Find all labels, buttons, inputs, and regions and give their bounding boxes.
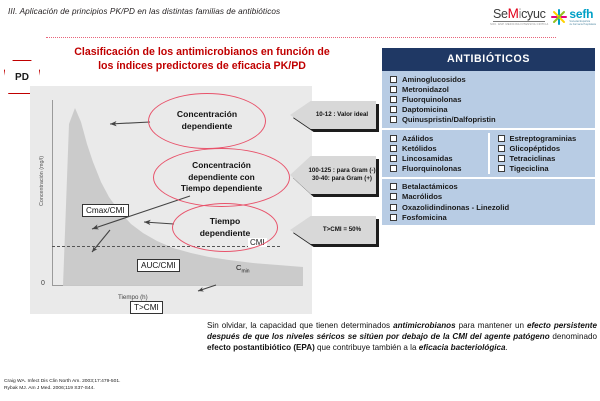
header-divider bbox=[46, 37, 556, 38]
auc-cmi-box: AUC/CMI bbox=[137, 259, 180, 272]
reference-line-2: Rybak MJ. Am J Med. 2006;119 S37-S44. bbox=[4, 386, 120, 393]
sefh-sub2: de Farmacia Hospitalaria bbox=[569, 23, 596, 26]
page-title: Clasificación de los antimicrobianos en … bbox=[34, 46, 370, 73]
list-item-label: Tigeciclina bbox=[510, 164, 549, 173]
cmin-label: Cmin bbox=[236, 263, 250, 275]
list-item-label: Fosfomicina bbox=[402, 213, 447, 222]
list-item: Quinuspristin/Dalfopristin bbox=[382, 115, 595, 125]
antibiotics-section-3: Betalactámicos Macrólidos Oxazolidindino… bbox=[382, 177, 595, 226]
checkbox-icon bbox=[390, 165, 397, 172]
ellipse-concentracion-dependiente: Concentración dependiente bbox=[148, 93, 266, 149]
para-text-3: denominado bbox=[550, 332, 597, 341]
ellipse2-line3: Tiempo dependiente bbox=[181, 183, 262, 195]
chevron3-text: T>CMI = 50% bbox=[290, 216, 376, 244]
pd-badge-label: PD bbox=[15, 72, 29, 83]
antibiotics-table-header: ANTIBIÓTICOS bbox=[382, 48, 595, 71]
list-item-label: Aminoglucosidos bbox=[402, 75, 466, 84]
antibiotics-col-right: Estreptograminias Glicopéptidos Tetracic… bbox=[490, 133, 596, 174]
cmax-cmi-box: Cmax/CMI bbox=[82, 204, 129, 217]
list-item: Aminoglucosidos bbox=[382, 74, 595, 84]
semicyuc-logo: SeMicyuc SOC. ESP. MEDICINA INTENSIVA CR… bbox=[490, 8, 548, 26]
chevron2-line1: 100-125 : para Gram (-) bbox=[308, 167, 375, 175]
list-item: Glicopéptidos bbox=[490, 143, 596, 153]
checkbox-icon bbox=[390, 76, 397, 83]
para-emph-4: eficacia bacteriológica bbox=[419, 343, 506, 352]
ellipse-concentracion-tiempo-dependiente: Concentración dependiente con Tiempo dep… bbox=[153, 148, 290, 207]
ellipse3-line2: dependiente bbox=[200, 228, 251, 240]
list-item: Estreptograminias bbox=[490, 133, 596, 143]
ellipse3-line1: Tiempo bbox=[200, 216, 251, 228]
checkbox-icon bbox=[498, 165, 505, 172]
list-item: Tetraciclinas bbox=[490, 153, 596, 163]
semicyuc-tagline: SOC. ESP. MEDICINA INTENSIVA CRITICA bbox=[490, 23, 548, 26]
semicyuc-wordmark: SeMicyuc bbox=[493, 8, 546, 20]
antibiotics-section-2: Azálidos Ketólidos Lincosamidas Fluorqui… bbox=[382, 128, 595, 177]
checkbox-icon bbox=[390, 145, 397, 152]
ellipse2-line2: dependiente con bbox=[181, 172, 262, 184]
chevron-t-sobre-cmi: T>CMI = 50% bbox=[290, 216, 376, 244]
reference-line-1: Craig WA. Infect Dis Clin North Am. 2003… bbox=[4, 379, 120, 386]
checkbox-icon bbox=[390, 116, 397, 123]
list-item-label: Daptomicina bbox=[402, 105, 448, 114]
chevron3-line1: T>CMI = 50% bbox=[323, 226, 361, 234]
checkbox-icon bbox=[390, 86, 397, 93]
list-item-label: Quinuspristin/Dalfopristin bbox=[402, 115, 496, 124]
list-item-label: Ketólidos bbox=[402, 144, 437, 153]
list-item: Lincosamidas bbox=[382, 153, 488, 163]
checkbox-icon bbox=[390, 193, 397, 200]
list-item: Fluorquinolonas bbox=[382, 94, 595, 104]
list-item: Betalactámicos bbox=[382, 182, 595, 192]
list-item: Oxazolidindinonas - Linezolid bbox=[382, 202, 595, 212]
sefh-logo: sefh Sociedad Española de Farmacia Hospi… bbox=[551, 9, 596, 26]
list-item: Daptomicina bbox=[382, 105, 595, 115]
list-item-label: Estreptograminias bbox=[510, 134, 577, 143]
list-item-label: Tetraciclinas bbox=[510, 154, 556, 163]
chart-origin-label: 0 bbox=[41, 280, 45, 287]
checkbox-icon bbox=[390, 214, 397, 221]
ellipse1-line2: dependiente bbox=[177, 121, 237, 133]
para-emph-1: antimicrobianos bbox=[393, 321, 456, 330]
slide-root: III. Aplicación de principios PK/PD en l… bbox=[0, 0, 600, 401]
chevron1-line1: 10-12 : Valor ideal bbox=[316, 111, 368, 119]
ellipse-tiempo-dependiente: Tiempo dependiente bbox=[172, 203, 278, 252]
list-item: Fluorquinolonas bbox=[382, 164, 488, 174]
star-icon bbox=[551, 9, 567, 25]
antibiotics-two-column: Azálidos Ketólidos Lincosamidas Fluorqui… bbox=[382, 133, 595, 174]
list-item-label: Fluorquinolonas bbox=[402, 164, 461, 173]
logo-group: SeMicyuc SOC. ESP. MEDICINA INTENSIVA CR… bbox=[490, 2, 596, 32]
list-item-label: Lincosamidas bbox=[402, 154, 453, 163]
checkbox-icon bbox=[390, 106, 397, 113]
chart-y-axis-label: Concentración (mg/l) bbox=[39, 131, 45, 231]
summary-paragraph: Sin olvidar, la capacidad que tienen det… bbox=[207, 320, 597, 354]
antibiotics-col-left: Azálidos Ketólidos Lincosamidas Fluorqui… bbox=[382, 133, 490, 174]
references: Craig WA. Infect Dis Clin North Am. 2003… bbox=[4, 379, 120, 392]
chart-x-axis-label: Tiempo (h) bbox=[118, 294, 148, 301]
page-title-line2: los índices predictores de eficacia PK/P… bbox=[34, 60, 370, 74]
list-item-label: Azálidos bbox=[402, 134, 433, 143]
sefh-wordmark: sefh Sociedad Española de Farmacia Hospi… bbox=[569, 9, 596, 26]
list-item-label: Oxazolidindinonas - Linezolid bbox=[402, 203, 509, 212]
list-item: Ketólidos bbox=[382, 143, 488, 153]
antibiotics-table: ANTIBIÓTICOS Aminoglucosidos Metronidazo… bbox=[382, 48, 595, 225]
chevron1-text: 10-12 : Valor ideal bbox=[290, 101, 376, 129]
checkbox-icon bbox=[390, 183, 397, 190]
checkbox-icon bbox=[390, 135, 397, 142]
list-item: Metronidazol bbox=[382, 84, 595, 94]
slide-header-title: III. Aplicación de principios PK/PD en l… bbox=[8, 7, 428, 16]
list-item: Fosfomicina bbox=[382, 212, 595, 222]
chevron-gram-valores: 100-125 : para Gram (-) 30-40: para Gram… bbox=[290, 156, 376, 194]
antibiotics-section-1: Aminoglucosidos Metronidazol Fluorquinol… bbox=[382, 71, 595, 128]
para-emph-3: efecto postantibiótico (EPA) bbox=[207, 343, 315, 352]
ellipse2-line1: Concentración bbox=[181, 160, 262, 172]
list-item: Macrólidos bbox=[382, 192, 595, 202]
list-item: Tigeciclina bbox=[490, 164, 596, 174]
para-text-2: para mantener un bbox=[456, 321, 527, 330]
checkbox-icon bbox=[498, 145, 505, 152]
para-text-4: que contribuye también a la bbox=[315, 343, 419, 352]
chevron2-text: 100-125 : para Gram (-) 30-40: para Gram… bbox=[290, 156, 376, 194]
checkbox-icon bbox=[390, 96, 397, 103]
checkbox-icon bbox=[390, 155, 397, 162]
list-item-label: Fluorquinolonas bbox=[402, 95, 461, 104]
ellipse1-line1: Concentración bbox=[177, 109, 237, 121]
list-item-label: Betalactámicos bbox=[402, 182, 458, 191]
checkbox-icon bbox=[498, 135, 505, 142]
list-item: Azálidos bbox=[382, 133, 488, 143]
checkbox-icon bbox=[498, 155, 505, 162]
page-title-line1: Clasificación de los antimicrobianos en … bbox=[34, 46, 370, 60]
chevron2-line2: 30-40: para Gram (+) bbox=[312, 175, 372, 183]
checkbox-icon bbox=[390, 204, 397, 211]
para-text-5: . bbox=[506, 343, 508, 352]
chevron-valor-ideal: 10-12 : Valor ideal bbox=[290, 101, 376, 129]
para-text-1: Sin olvidar, la capacidad que tienen det… bbox=[207, 321, 393, 330]
list-item-label: Glicopéptidos bbox=[510, 144, 561, 153]
sefh-name: sefh bbox=[569, 9, 596, 20]
list-item-label: Macrólidos bbox=[402, 192, 442, 201]
list-item-label: Metronidazol bbox=[402, 85, 449, 94]
t-over-cmi-box: T>CMI bbox=[130, 301, 163, 314]
